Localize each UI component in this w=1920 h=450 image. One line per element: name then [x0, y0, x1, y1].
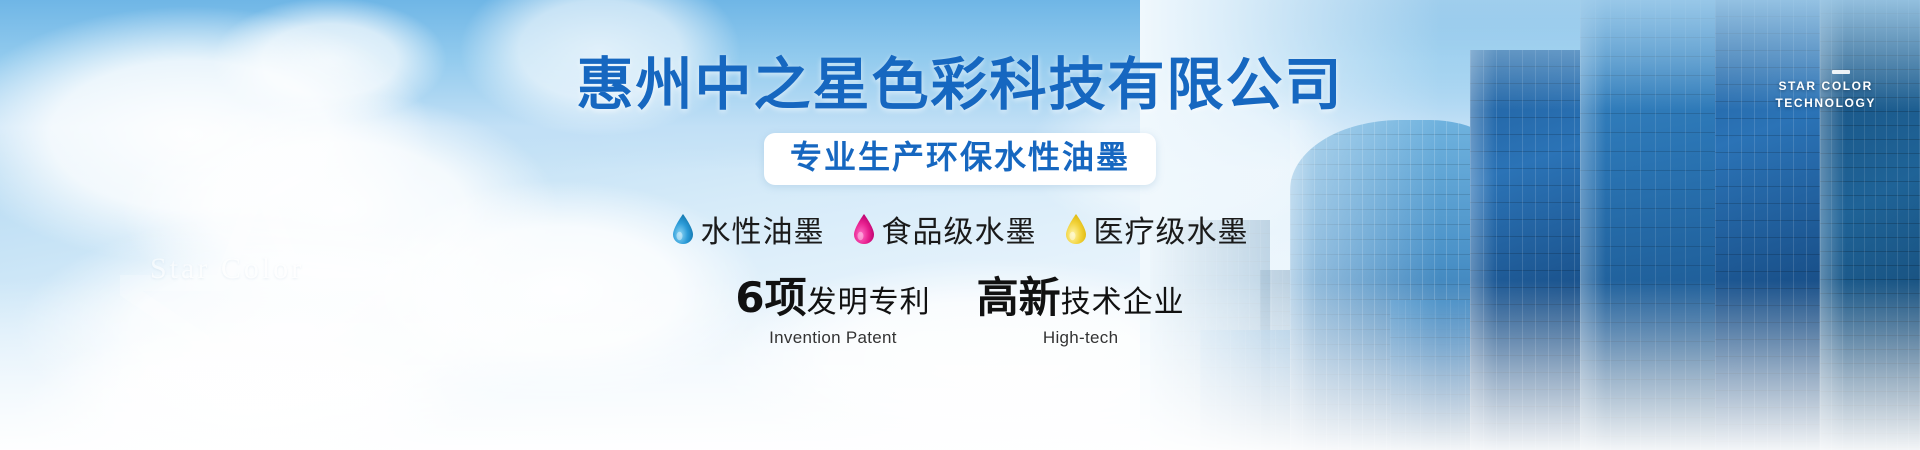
badge-english: High-tech	[1043, 328, 1118, 348]
badge-line: 高新 技术企业	[977, 277, 1185, 319]
feature-label: 医疗级水墨	[1094, 207, 1249, 251]
water-drop-icon	[672, 214, 694, 244]
badge-highlight: 高新	[977, 277, 1061, 319]
feature-list: 水性油墨 食品级水墨	[672, 207, 1249, 251]
banner-content: 惠州中之星色彩科技有限公司 专业生产环保水性油墨 水性油墨	[0, 0, 1920, 450]
badge-text: 技术企业	[1061, 288, 1185, 318]
badge-list: 6项 发明专利 Invention Patent 高新 技术企业 High-te…	[735, 277, 1184, 348]
feature-label: 水性油墨	[701, 207, 825, 251]
feature-label: 食品级水墨	[882, 207, 1037, 251]
badge-text: 发明专利	[807, 288, 931, 318]
company-title: 惠州中之星色彩科技有限公司	[577, 57, 1344, 114]
feature-item: 食品级水墨	[853, 207, 1037, 251]
badge-highlight: 6项	[735, 277, 806, 319]
feature-item: 水性油墨	[672, 207, 825, 251]
feature-item: 医疗级水墨	[1065, 207, 1249, 251]
water-drop-icon	[1065, 214, 1087, 244]
subtitle-pill: 专业生产环保水性油墨	[764, 133, 1156, 185]
water-drop-icon	[853, 214, 875, 244]
badge-english: Invention Patent	[769, 328, 897, 348]
badge-line: 6项 发明专利	[735, 277, 930, 319]
company-hero-banner: STAR COLOR TECHNOLOGY Star Color 惠州中之星色彩…	[0, 0, 1920, 450]
badge-item: 高新 技术企业 High-tech	[977, 277, 1185, 348]
subtitle-pill-label: 专业生产环保水性油墨	[790, 138, 1130, 176]
badge-item: 6项 发明专利 Invention Patent	[735, 277, 930, 348]
